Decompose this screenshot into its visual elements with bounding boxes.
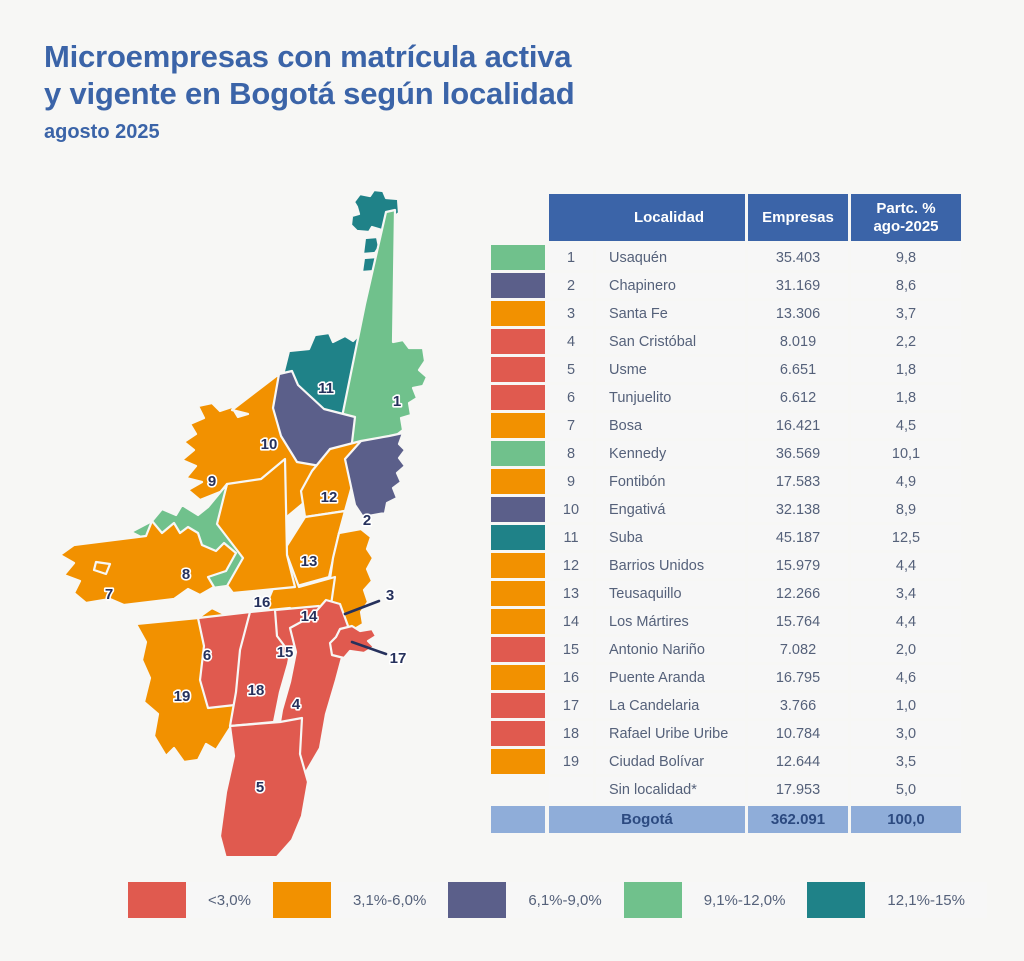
row-partc-value: 3,4 (851, 581, 961, 606)
legend-item[interactable]: 3,1%-6,0% (273, 882, 448, 918)
swatch-fill (491, 749, 545, 774)
legend-item[interactable]: <3,0% (128, 882, 273, 918)
legend-swatch (807, 882, 865, 918)
row-partc-value: 3,7 (851, 301, 961, 326)
row-partc-value: 3,0 (851, 721, 961, 746)
row-color-swatch (491, 413, 545, 438)
row-localidad-name: Antonio Nariño (593, 637, 745, 662)
legend-item[interactable]: 12,1%-15% (807, 882, 987, 918)
row-empresas-value: 10.784 (748, 721, 848, 746)
row-color-swatch (491, 693, 545, 718)
table-row[interactable]: 16Puente Aranda16.7954,6 (491, 665, 961, 690)
swatch-fill (491, 609, 545, 634)
row-localidad-name: Barrios Unidos (593, 553, 745, 578)
header-partc-line1: Partc. % (876, 200, 935, 218)
row-empresas-value: 17.953 (748, 777, 848, 802)
row-color-swatch (491, 609, 545, 634)
row-color-swatch (491, 525, 545, 550)
table-body: 1Usaquén35.4039,82Chapinero31.1698,63San… (491, 245, 961, 802)
table-row[interactable]: Sin localidad*17.9535,0 (491, 777, 961, 802)
row-localidad-name: San Cristóbal (593, 329, 745, 354)
swatch-fill (491, 525, 545, 550)
row-partc-value: 5,0 (851, 777, 961, 802)
row-color-swatch (491, 441, 545, 466)
table-row[interactable]: 11Suba45.18712,5 (491, 525, 961, 550)
swatch-fill (491, 637, 545, 662)
row-empresas-value: 3.766 (748, 693, 848, 718)
table-total-row: Bogotá 362.091 100,0 (491, 806, 961, 833)
legend-item[interactable]: 6,1%-9,0% (448, 882, 623, 918)
bogota-choropleth-map: 1 2 3 4 5 6 7 8 9 10 11 12 13 14 15 16 1… (34, 186, 474, 856)
table-row[interactable]: 17La Candelaria3.7661,0 (491, 693, 961, 718)
legend-label: 12,1%-15% (865, 882, 987, 918)
map-label-6: 6 (203, 647, 211, 664)
swatch-fill (491, 469, 545, 494)
row-empresas-value: 15.764 (748, 609, 848, 634)
header-partc: Partc. % ago-2025 (851, 194, 961, 241)
row-number: 16 (549, 665, 593, 690)
row-localidad-name: Santa Fe (593, 301, 745, 326)
row-number (549, 777, 593, 802)
map-label-17: 17 (390, 650, 407, 667)
page-title-line2: y vigente en Bogotá según localidad (44, 75, 784, 112)
table-row[interactable]: 10Engativá32.1388,9 (491, 497, 961, 522)
legend-swatch (273, 882, 331, 918)
table-row[interactable]: 3Santa Fe13.3063,7 (491, 301, 961, 326)
row-partc-value: 1,0 (851, 693, 961, 718)
row-partc-value: 4,4 (851, 553, 961, 578)
table-row[interactable]: 13Teusaquillo12.2663,4 (491, 581, 961, 606)
row-localidad-name: Bosa (593, 413, 745, 438)
row-color-swatch (491, 469, 545, 494)
row-empresas-value: 12.266 (748, 581, 848, 606)
swatch-fill (491, 497, 545, 522)
row-partc-value: 4,9 (851, 469, 961, 494)
row-number: 18 (549, 721, 593, 746)
row-localidad-name: Ciudad Bolívar (593, 749, 745, 774)
table-row[interactable]: 9Fontibón17.5834,9 (491, 469, 961, 494)
row-color-swatch (491, 777, 545, 802)
table-row[interactable]: 14Los Mártires15.7644,4 (491, 609, 961, 634)
row-empresas-value: 16.795 (748, 665, 848, 690)
row-number: 6 (549, 385, 593, 410)
legend-label: 9,1%-12,0% (682, 882, 808, 918)
legend-label: <3,0% (186, 882, 273, 918)
row-empresas-value: 6.651 (748, 357, 848, 382)
map-label-11: 11 (318, 380, 334, 397)
row-number: 19 (549, 749, 593, 774)
row-localidad-name: Teusaquillo (593, 581, 745, 606)
row-color-swatch (491, 665, 545, 690)
row-partc-value: 12,5 (851, 525, 961, 550)
page-title-line1: Microempresas con matrícula activa (44, 38, 784, 75)
map-label-13: 13 (301, 553, 318, 570)
map-label-1: 1 (393, 393, 401, 410)
legend-swatch (128, 882, 186, 918)
row-empresas-value: 13.306 (748, 301, 848, 326)
table-row[interactable]: 6Tunjuelito6.6121,8 (491, 385, 961, 410)
row-empresas-value: 32.138 (748, 497, 848, 522)
map-label-16: 16 (254, 594, 271, 611)
row-number: 4 (549, 329, 593, 354)
row-number: 9 (549, 469, 593, 494)
table-row[interactable]: 4San Cristóbal8.0192,2 (491, 329, 961, 354)
legend-swatch (448, 882, 506, 918)
row-empresas-value: 35.403 (748, 245, 848, 270)
row-color-swatch (491, 385, 545, 410)
table-header-row: Localidad Empresas Partc. % ago-2025 (491, 194, 961, 241)
swatch-fill (491, 441, 545, 466)
row-number: 14 (549, 609, 593, 634)
map-label-12: 12 (321, 489, 338, 506)
map-label-4: 4 (292, 696, 301, 713)
row-number: 5 (549, 357, 593, 382)
row-empresas-value: 17.583 (748, 469, 848, 494)
swatch-fill (491, 721, 545, 746)
row-partc-value: 3,5 (851, 749, 961, 774)
row-empresas-value: 31.169 (748, 273, 848, 298)
legend: <3,0%3,1%-6,0%6,1%-9,0%9,1%-12,0%12,1%-1… (128, 882, 987, 918)
swatch-fill (491, 413, 545, 438)
total-label: Bogotá (549, 806, 745, 833)
total-swatch-spacer (491, 806, 545, 833)
swatch-fill (491, 245, 545, 270)
table-row[interactable]: 1Usaquén35.4039,8 (491, 245, 961, 270)
row-partc-value: 2,2 (851, 329, 961, 354)
row-number: 17 (549, 693, 593, 718)
map-label-19: 19 (174, 688, 191, 705)
header-swatch-spacer (491, 194, 545, 241)
map-label-18: 18 (248, 682, 265, 699)
row-color-swatch (491, 301, 545, 326)
row-color-swatch (491, 721, 545, 746)
table-row[interactable]: 8Kennedy36.56910,1 (491, 441, 961, 466)
row-partc-value: 2,0 (851, 637, 961, 662)
row-empresas-value: 16.421 (748, 413, 848, 438)
swatch-fill (491, 301, 545, 326)
row-color-swatch (491, 749, 545, 774)
row-color-swatch (491, 497, 545, 522)
row-localidad-name: Tunjuelito (593, 385, 745, 410)
row-partc-value: 1,8 (851, 385, 961, 410)
map-label-7: 7 (105, 586, 113, 603)
table-row[interactable]: 5Usme6.6511,8 (491, 357, 961, 382)
header-localidad: Localidad (593, 194, 745, 241)
legend-swatch (624, 882, 682, 918)
row-number: 13 (549, 581, 593, 606)
row-localidad-name: Suba (593, 525, 745, 550)
map-label-14: 14 (301, 608, 318, 625)
table-row[interactable]: 15Antonio Nariño7.0822,0 (491, 637, 961, 662)
row-number: 12 (549, 553, 593, 578)
table-row[interactable]: 7Bosa16.4214,5 (491, 413, 961, 438)
row-color-swatch (491, 553, 545, 578)
row-number: 3 (549, 301, 593, 326)
row-empresas-value: 12.644 (748, 749, 848, 774)
swatch-fill (491, 553, 545, 578)
row-number: 1 (549, 245, 593, 270)
row-number: 2 (549, 273, 593, 298)
row-color-swatch (491, 329, 545, 354)
row-partc-value: 10,1 (851, 441, 961, 466)
table-row[interactable]: 18Rafael Uribe Uribe10.7843,0 (491, 721, 961, 746)
row-number: 11 (549, 525, 593, 550)
legend-label: 6,1%-9,0% (506, 882, 623, 918)
row-localidad-name: Engativá (593, 497, 745, 522)
swatch-fill (491, 693, 545, 718)
swatch-fill (491, 273, 545, 298)
row-localidad-name: La Candelaria (593, 693, 745, 718)
row-partc-value: 1,8 (851, 357, 961, 382)
page-subtitle: agosto 2025 (44, 120, 784, 144)
row-localidad-name: Chapinero (593, 273, 745, 298)
legend-label: 3,1%-6,0% (331, 882, 448, 918)
row-empresas-value: 36.569 (748, 441, 848, 466)
row-color-swatch (491, 273, 545, 298)
row-number: 8 (549, 441, 593, 466)
map-label-10: 10 (261, 436, 278, 453)
row-partc-value: 4,5 (851, 413, 961, 438)
row-number: 7 (549, 413, 593, 438)
row-color-swatch (491, 637, 545, 662)
row-partc-value: 8,9 (851, 497, 961, 522)
row-number: 10 (549, 497, 593, 522)
row-number: 15 (549, 637, 593, 662)
row-empresas-value: 45.187 (748, 525, 848, 550)
row-color-swatch (491, 581, 545, 606)
total-empresas: 362.091 (748, 806, 848, 833)
legend-item[interactable]: 9,1%-12,0% (624, 882, 808, 918)
row-color-swatch (491, 357, 545, 382)
map-label-3: 3 (386, 587, 394, 604)
header-number-cell (549, 194, 593, 241)
localidades-table: Localidad Empresas Partc. % ago-2025 1Us… (491, 194, 961, 836)
row-empresas-value: 6.612 (748, 385, 848, 410)
swatch-fill (491, 665, 545, 690)
table-row[interactable]: 12Barrios Unidos15.9794,4 (491, 553, 961, 578)
infographic-canvas: Microempresas con matrícula activa y vig… (0, 0, 1024, 961)
row-color-swatch (491, 245, 545, 270)
row-partc-value: 8,6 (851, 273, 961, 298)
swatch-fill (491, 385, 545, 410)
swatch-fill (491, 357, 545, 382)
header-empresas: Empresas (748, 194, 848, 241)
table-row[interactable]: 2Chapinero31.1698,6 (491, 273, 961, 298)
title-block: Microempresas con matrícula activa y vig… (44, 38, 784, 144)
table-row[interactable]: 19Ciudad Bolívar12.6443,5 (491, 749, 961, 774)
row-localidad-name: Los Mártires (593, 609, 745, 634)
swatch-fill (491, 329, 545, 354)
row-empresas-value: 15.979 (748, 553, 848, 578)
header-partc-line2: ago-2025 (873, 218, 938, 236)
map-label-9: 9 (208, 473, 216, 490)
row-partc-value: 9,8 (851, 245, 961, 270)
row-localidad-name: Fontibón (593, 469, 745, 494)
map-label-8: 8 (182, 566, 190, 583)
row-localidad-name: Usme (593, 357, 745, 382)
row-empresas-value: 8.019 (748, 329, 848, 354)
map-label-5: 5 (256, 779, 264, 796)
row-localidad-name: Sin localidad* (593, 777, 745, 802)
map-label-15: 15 (277, 644, 294, 661)
row-localidad-name: Kennedy (593, 441, 745, 466)
row-localidad-name: Usaquén (593, 245, 745, 270)
map-label-2: 2 (363, 512, 371, 529)
row-empresas-value: 7.082 (748, 637, 848, 662)
row-localidad-name: Rafael Uribe Uribe (593, 721, 745, 746)
total-partc: 100,0 (851, 806, 961, 833)
swatch-fill (491, 581, 545, 606)
row-partc-value: 4,4 (851, 609, 961, 634)
row-partc-value: 4,6 (851, 665, 961, 690)
row-localidad-name: Puente Aranda (593, 665, 745, 690)
